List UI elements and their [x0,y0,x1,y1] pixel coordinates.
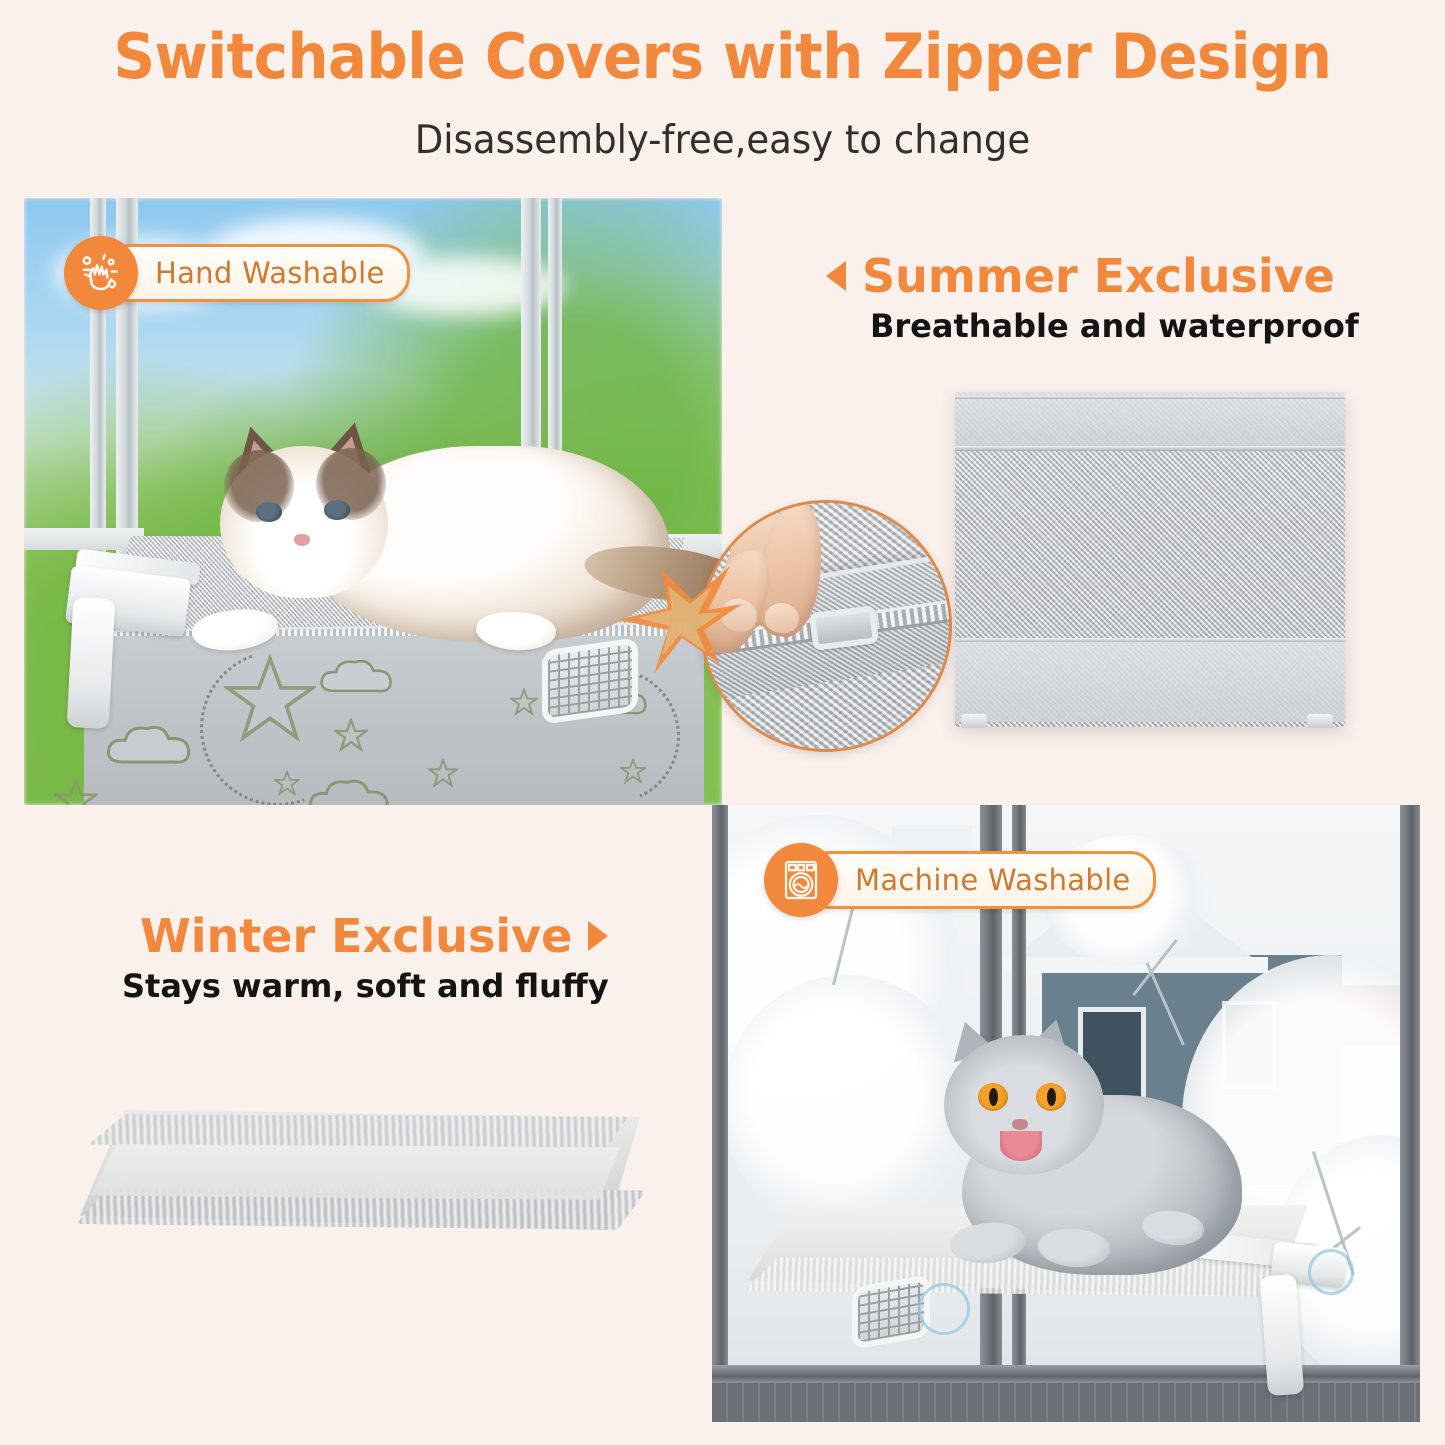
window-frame-edge [712,805,728,1422]
cat-eye [1036,1083,1066,1111]
winter-photo: Machine Washable [712,805,1420,1422]
mesh-cover-bottom-band [955,642,1345,722]
badge-hand-washable-label: Hand Washable [155,256,385,290]
mesh-cover-seam [955,396,1345,399]
summer-photo: Hand Washable [24,198,722,805]
cloud-graphic [316,653,402,703]
cat-eye [256,502,282,522]
callout-winter-heading: Winter Exclusive [140,912,572,960]
sparkle-flare-graphic [612,556,742,676]
plush-cover-fur-top [88,1114,628,1148]
washing-machine-icon [764,843,838,917]
snow-covered-tree [722,975,972,1235]
window-frame-horizontal [712,1365,1420,1383]
badge-machine-washable: Machine Washable [764,843,1156,917]
cat-nose [294,534,310,546]
badge-hand-washable: Hand Washable [64,236,410,310]
cat-eye [324,500,350,520]
callout-winter-subheading: Stays warm, soft and fluffy [122,968,609,1005]
cat-nose [1012,1119,1028,1130]
callout-summer: Summer Exclusive Breathable and waterpro… [826,252,1359,345]
star-graphic [510,688,538,716]
winter-plush-cover-product [60,1100,660,1290]
mount-bracket-post [67,597,116,729]
star-graphic [54,778,98,805]
mesh-cover-tab [1307,714,1333,728]
suction-cup [918,1283,970,1335]
wall-siding [712,1383,1420,1422]
page-title: Switchable Covers with Zipper Design [51,24,1395,89]
cat-eye [978,1083,1008,1111]
triangle-left-icon [826,261,846,291]
callout-summer-heading: Summer Exclusive [862,252,1335,300]
hand-washing-icon [64,236,138,310]
suction-cup [1308,1249,1354,1295]
summer-mesh-cover-product [955,392,1345,727]
badge-machine-washable-pill: Machine Washable [804,851,1156,909]
mesh-cover-top-band [955,392,1345,448]
window-sill [24,528,144,550]
cat-mouth [1000,1131,1042,1161]
callout-summer-subheading: Breathable and waterproof [870,308,1359,345]
mesh-cover-seam [955,446,1345,451]
star-graphic [428,758,458,788]
zipper-pull-icon [809,605,879,651]
callout-winter: Winter Exclusive Stays warm, soft and fl… [140,912,609,1005]
cloud-graphic [102,718,202,776]
badge-machine-washable-label: Machine Washable [855,863,1131,897]
infographic-canvas: Switchable Covers with Zipper Design Dis… [0,0,1445,1445]
triangle-right-icon [588,921,608,951]
cloud-graphic [304,773,400,805]
plush-cover-center-panel [90,1144,620,1200]
mesh-cover-tab [961,714,987,728]
badge-hand-washable-pill: Hand Washable [104,244,410,302]
page-subtitle: Disassembly-free,easy to change [36,120,1409,163]
window-frame-edge [1400,805,1420,1422]
